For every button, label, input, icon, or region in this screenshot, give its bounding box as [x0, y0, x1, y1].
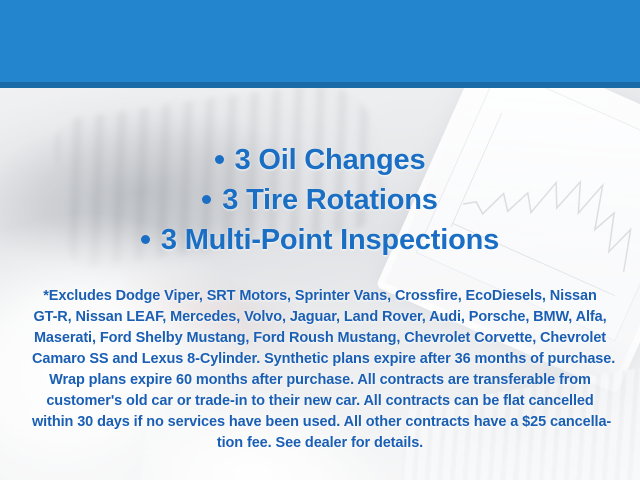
- extracare-package-promo: ExtraCare Package* 3 Oil Changes 3 Tire …: [0, 0, 640, 480]
- disclaimer-line: Wrap plans expire 60 months after purcha…: [32, 370, 608, 391]
- disclaimer-line: tion fee. See dealer for details.: [32, 433, 608, 454]
- disclaimer-text: *Excludes Dodge Viper, SRT Motors, Sprin…: [32, 286, 608, 454]
- disclaimer-line: *Excludes Dodge Viper, SRT Motors, Sprin…: [32, 286, 608, 307]
- disclaimer-line: Maserati, Ford Shelby Mustang, Ford Rous…: [32, 328, 608, 349]
- bullet-dot-icon: [141, 235, 150, 244]
- bullet-dot-icon: [215, 155, 224, 164]
- list-item-label: 3 Tire Rotations: [222, 184, 437, 216]
- header-banner-underline: [0, 82, 640, 88]
- disclaimer-line: customer's old car or trade-in to their …: [32, 391, 608, 412]
- disclaimer-line: GT-R, Nissan LEAF, Mercedes, Volvo, Jagu…: [32, 307, 608, 328]
- list-item: 3 Oil Changes: [0, 140, 640, 180]
- bullet-dot-icon: [202, 195, 211, 204]
- disclaimer-line: Camaro SS and Lexus 8-Cylinder. Syntheti…: [32, 349, 608, 370]
- list-item-label: 3 Multi-Point Inspections: [161, 224, 499, 256]
- list-item-label: 3 Oil Changes: [235, 144, 426, 176]
- list-item: 3 Multi-Point Inspections: [0, 220, 640, 260]
- disclaimer-line: within 30 days if no services have been …: [32, 412, 608, 433]
- list-item: 3 Tire Rotations: [0, 180, 640, 220]
- benefits-list: 3 Oil Changes 3 Tire Rotations 3 Multi-P…: [0, 140, 640, 260]
- header-banner: [0, 0, 640, 82]
